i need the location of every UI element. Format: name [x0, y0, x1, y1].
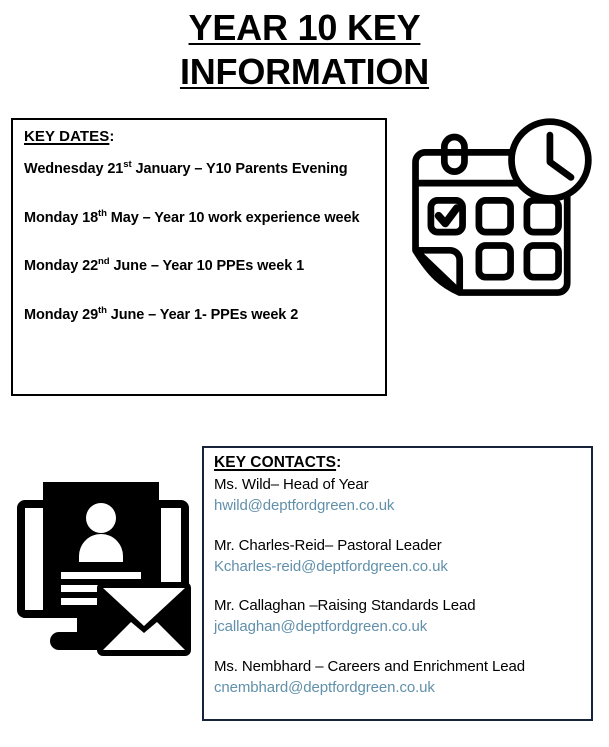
- key-date-item: Monday 29th June – Year 1- PPEs week 2: [24, 305, 375, 326]
- contact-name: Mr. Callaghan –Raising Standards Lead: [214, 595, 583, 616]
- key-date-ordinal: th: [98, 208, 107, 219]
- contact-card-envelope-icon: [13, 470, 193, 662]
- contact-name: Ms. Wild– Head of Year: [214, 474, 583, 495]
- key-date-prefix: Monday 18: [24, 210, 98, 226]
- contact-entry: Mr. Charles-Reid– Pastoral Leader Kcharl…: [214, 535, 583, 578]
- contact-name: Ms. Nembhard – Careers and Enrichment Le…: [214, 656, 583, 677]
- contact-entry: Ms. Wild– Head of Year hwild@deptfordgre…: [214, 474, 583, 517]
- calendar-cell: [527, 200, 559, 232]
- page-title: YEAR 10 KEY INFORMATION: [0, 6, 609, 94]
- calendar-cell: [527, 246, 559, 278]
- key-dates-heading-text: KEY DATES: [24, 128, 109, 145]
- key-contacts-heading: KEY CONTACTS:: [214, 454, 583, 472]
- key-date-ordinal: nd: [98, 256, 109, 267]
- key-date-suffix: January – Y10 Parents Evening: [132, 161, 348, 177]
- page-title-line-1: YEAR 10 KEY: [189, 6, 421, 50]
- key-date-item: Monday 18th May – Year 10 work experienc…: [24, 208, 375, 229]
- contact-entry: Mr. Callaghan –Raising Standards Lead jc…: [214, 595, 583, 638]
- key-dates-heading: KEY DATES:: [24, 128, 375, 145]
- contact-email[interactable]: hwild@deptfordgreen.co.uk: [214, 495, 583, 516]
- screen-inner-left: [25, 508, 45, 610]
- key-date-suffix: May – Year 10 work experience week: [107, 210, 360, 226]
- key-date-suffix: June – Year 10 PPEs week 1: [110, 258, 305, 274]
- contact-name: Mr. Charles-Reid– Pastoral Leader: [214, 535, 583, 556]
- key-date-ordinal: st: [123, 159, 131, 170]
- key-contacts-heading-colon: :: [336, 454, 341, 471]
- key-date-prefix: Wednesday 21: [24, 161, 123, 177]
- card-text-line: [61, 572, 141, 579]
- key-date-prefix: Monday 22: [24, 258, 98, 274]
- calendar-cell: [479, 200, 511, 232]
- avatar-head: [86, 503, 116, 533]
- key-dates-box: KEY DATES: Wednesday 21st January – Y10 …: [11, 118, 387, 396]
- contact-email[interactable]: cnembhard@deptfordgreen.co.uk: [214, 677, 583, 698]
- calendar-cell: [479, 246, 511, 278]
- calendar-clock-icon: [404, 112, 596, 308]
- key-contacts-heading-text: KEY CONTACTS: [214, 454, 336, 471]
- key-date-item: Wednesday 21st January – Y10 Parents Eve…: [24, 159, 375, 180]
- key-contacts-box: KEY CONTACTS: Ms. Wild– Head of Year hwi…: [202, 446, 593, 721]
- check-icon: [439, 208, 457, 223]
- page-title-line-2: INFORMATION: [180, 50, 429, 94]
- contact-email[interactable]: Kcharles-reid@deptfordgreen.co.uk: [214, 556, 583, 577]
- key-date-suffix: June – Year 1- PPEs week 2: [107, 307, 298, 323]
- key-dates-heading-colon: :: [109, 128, 114, 145]
- contact-entry: Ms. Nembhard – Careers and Enrichment Le…: [214, 656, 583, 699]
- key-date-prefix: Monday 29: [24, 307, 98, 323]
- key-date-ordinal: th: [98, 305, 107, 316]
- key-date-item: Monday 22nd June – Year 10 PPEs week 1: [24, 256, 375, 277]
- contact-email[interactable]: jcallaghan@deptfordgreen.co.uk: [214, 616, 583, 637]
